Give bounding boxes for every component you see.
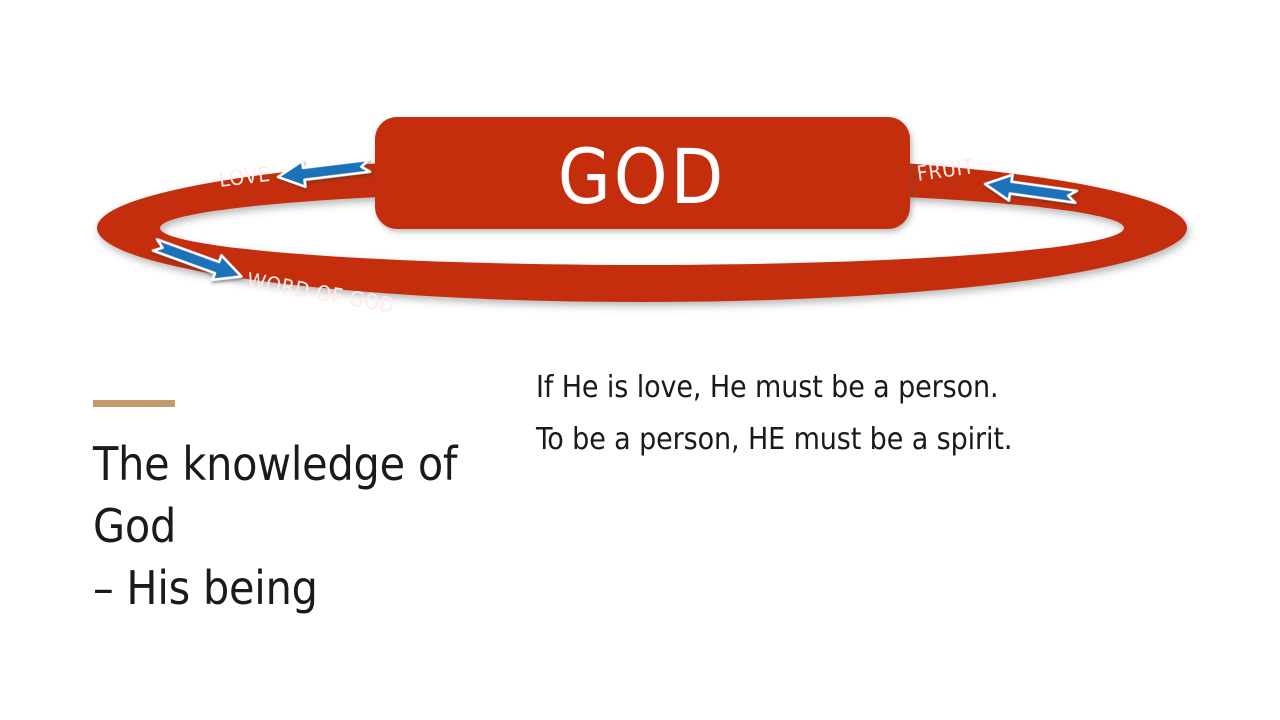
page-title: The knowledge of God – His being (93, 433, 473, 619)
cycle-diagram: GOD LOVE WORD OF GOD FRUIT (60, 95, 1240, 325)
god-box-label: GOD (558, 132, 726, 221)
body-line: If He is love, He must be a person. (536, 362, 1156, 414)
body-line: To be a person, HE must be a spirit. (536, 414, 1156, 466)
title-block: The knowledge of God – His being (93, 400, 473, 619)
slide-canvas: GOD LOVE WORD OF GOD FRUIT The knowledge… (0, 0, 1280, 720)
title-accent-bar (93, 400, 175, 407)
body-text-block: If He is love, He must be a person. To b… (536, 362, 1156, 466)
